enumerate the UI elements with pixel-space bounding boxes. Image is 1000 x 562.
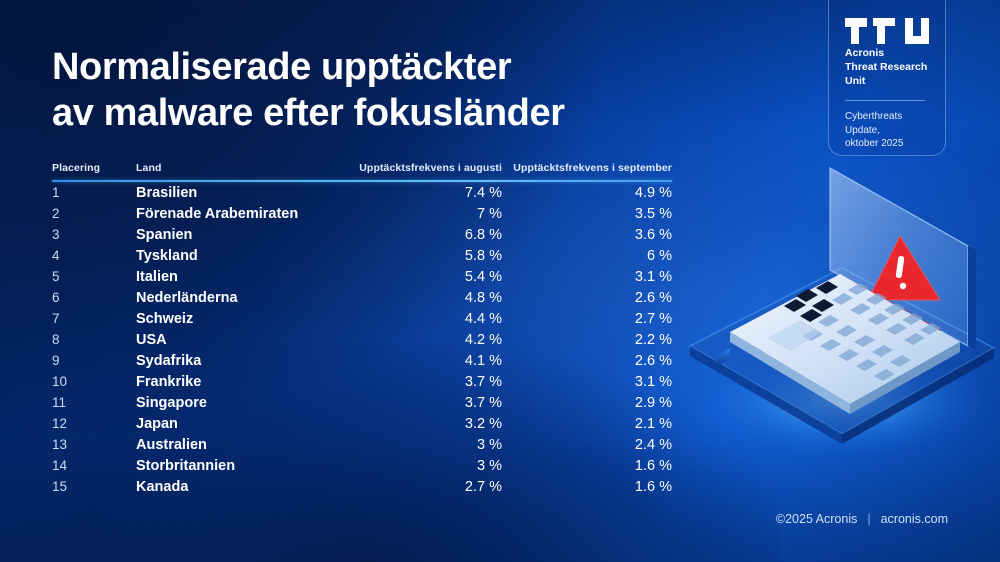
- cell-country: Italien: [136, 269, 332, 285]
- cell-september: 6 %: [502, 248, 672, 264]
- table-row: 10Frankrike3.7 %3.1 %: [52, 371, 672, 392]
- cell-september: 2.4 %: [502, 437, 672, 453]
- cell-august: 4.2 %: [332, 332, 502, 348]
- cell-august: 3 %: [332, 458, 502, 474]
- cell-september: 1.6 %: [502, 458, 672, 474]
- cell-august: 3.2 %: [332, 416, 502, 432]
- cell-rank: 15: [52, 479, 136, 494]
- cell-september: 2.2 %: [502, 332, 672, 348]
- table-header-row: Placering Land Upptäcktsfrekvens i augus…: [52, 162, 672, 180]
- cell-august: 5.4 %: [332, 269, 502, 285]
- cell-august: 3.7 %: [332, 395, 502, 411]
- copyright-text: ©2025 Acronis: [776, 512, 857, 526]
- cell-september: 2.6 %: [502, 290, 672, 306]
- cell-august: 3 %: [332, 437, 502, 453]
- cell-rank: 9: [52, 353, 136, 368]
- cell-august: 4.8 %: [332, 290, 502, 306]
- cell-rank: 3: [52, 227, 136, 242]
- table-row: 1Brasilien7.4 %4.9 %: [52, 182, 672, 203]
- cell-country: Australien: [136, 437, 332, 453]
- cell-rank: 13: [52, 437, 136, 452]
- footer-separator: |: [867, 512, 870, 526]
- cell-rank: 14: [52, 458, 136, 473]
- cell-august: 4.1 %: [332, 353, 502, 369]
- table-row: 6Nederländerna4.8 %2.6 %: [52, 287, 672, 308]
- cell-september: 2.7 %: [502, 311, 672, 327]
- table-row: 3Spanien6.8 %3.6 %: [52, 224, 672, 245]
- cell-september: 3.5 %: [502, 206, 672, 222]
- cell-rank: 4: [52, 248, 136, 263]
- table-row: 2Förenade Arabemiraten7 %3.5 %: [52, 203, 672, 224]
- cell-country: Schweiz: [136, 311, 332, 327]
- badge-title: Acronis Threat Research Unit: [845, 46, 941, 88]
- table-row: 4Tyskland5.8 %6 %: [52, 245, 672, 266]
- cell-august: 2.7 %: [332, 479, 502, 495]
- infographic-slide: Normaliserade upptäckter av malware efte…: [0, 0, 1000, 562]
- cell-august: 7.4 %: [332, 185, 502, 201]
- badge-subtitle: Cyberthreats Update, oktober 2025: [845, 110, 941, 151]
- cell-august: 6.8 %: [332, 227, 502, 243]
- cell-rank: 5: [52, 269, 136, 284]
- detection-rate-table: Placering Land Upptäcktsfrekvens i augus…: [52, 162, 672, 497]
- website-link[interactable]: acronis.com: [881, 512, 948, 526]
- cell-country: Brasilien: [136, 185, 332, 201]
- table-body: 1Brasilien7.4 %4.9 %2Förenade Arabemirat…: [52, 182, 672, 497]
- column-header-september: Upptäcktsfrekvens i september: [502, 162, 672, 174]
- cell-country: Japan: [136, 416, 332, 432]
- cell-september: 3.6 %: [502, 227, 672, 243]
- tru-badge: Acronis Threat Research Unit Cyberthreat…: [828, 0, 946, 156]
- cell-rank: 8: [52, 332, 136, 347]
- cell-country: Kanada: [136, 479, 332, 495]
- cell-rank: 1: [52, 185, 136, 200]
- page-title: Normaliserade upptäckter av malware efte…: [52, 44, 712, 137]
- cell-rank: 10: [52, 374, 136, 389]
- cell-country: Nederländerna: [136, 290, 332, 306]
- cell-august: 7 %: [332, 206, 502, 222]
- cell-september: 1.6 %: [502, 479, 672, 495]
- table-row: 13Australien3 %2.4 %: [52, 434, 672, 455]
- table-row: 12Japan3.2 %2.1 %: [52, 413, 672, 434]
- column-header-rank: Placering: [52, 162, 136, 174]
- cell-country: Frankrike: [136, 374, 332, 390]
- tru-logo-icon: [845, 18, 931, 44]
- table-row: 14Storbritannien3 %1.6 %: [52, 455, 672, 476]
- column-header-august: Upptäcktsfrekvens i augusti: [332, 162, 502, 174]
- table-row: 5Italien5.4 %3.1 %: [52, 266, 672, 287]
- table-row: 9Sydafrika4.1 %2.6 %: [52, 350, 672, 371]
- cell-rank: 12: [52, 416, 136, 431]
- table-row: 11Singapore3.7 %2.9 %: [52, 392, 672, 413]
- cell-country: Storbritannien: [136, 458, 332, 474]
- cell-september: 2.9 %: [502, 395, 672, 411]
- footer: ©2025 Acronis | acronis.com: [776, 512, 948, 526]
- table-row: 15Kanada2.7 %1.6 %: [52, 476, 672, 497]
- cell-september: 2.1 %: [502, 416, 672, 432]
- cell-rank: 7: [52, 311, 136, 326]
- isometric-laptop-illustration: [672, 150, 1000, 462]
- cell-country: Förenade Arabemiraten: [136, 206, 332, 222]
- cell-august: 4.4 %: [332, 311, 502, 327]
- table-row: 8USA4.2 %2.2 %: [52, 329, 672, 350]
- table-row: 7Schweiz4.4 %2.7 %: [52, 308, 672, 329]
- cell-country: Spanien: [136, 227, 332, 243]
- cell-rank: 11: [52, 395, 136, 410]
- cell-september: 3.1 %: [502, 269, 672, 285]
- column-header-country: Land: [136, 162, 332, 174]
- cell-country: Tyskland: [136, 248, 332, 264]
- laptop-screen-edge: [968, 246, 976, 350]
- badge-divider: [845, 100, 925, 101]
- cell-august: 3.7 %: [332, 374, 502, 390]
- cell-august: 5.8 %: [332, 248, 502, 264]
- cell-september: 2.6 %: [502, 353, 672, 369]
- cell-september: 4.9 %: [502, 185, 672, 201]
- cell-september: 3.1 %: [502, 374, 672, 390]
- cell-rank: 6: [52, 290, 136, 305]
- cell-country: Singapore: [136, 395, 332, 411]
- cell-rank: 2: [52, 206, 136, 221]
- cell-country: Sydafrika: [136, 353, 332, 369]
- cell-country: USA: [136, 332, 332, 348]
